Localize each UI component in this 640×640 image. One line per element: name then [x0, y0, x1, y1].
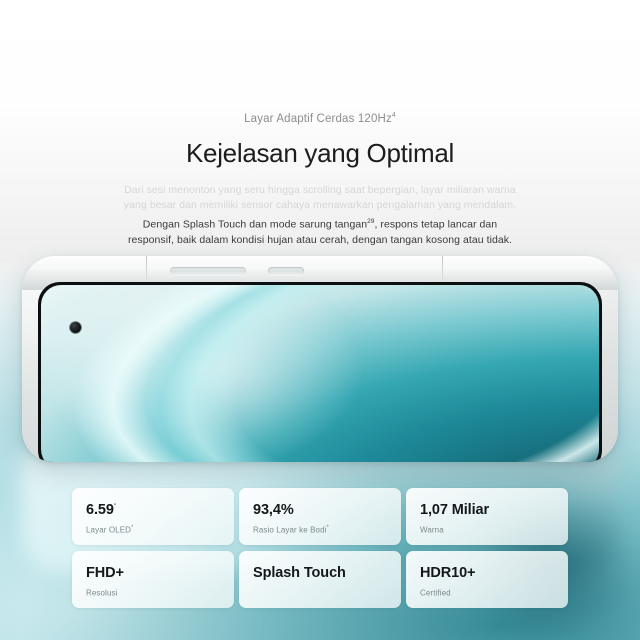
spec-cards-grid: 6.59" Layar OLED* 93,4% Rasio Layar ke B…: [72, 488, 568, 608]
spec-card-row-2: FHD+ Resolusi Splash Touch HDR10+ Certif…: [72, 551, 568, 608]
spec-card-subtitle: Certified: [420, 586, 554, 599]
paragraph-line-2: yang besar dan memiliki sensor cahaya me…: [0, 198, 640, 214]
spec-card-subtitle: Layar OLED*: [86, 523, 220, 536]
power-button-cutout: [268, 267, 304, 275]
spec-card-colors[interactable]: 1,07 Miliar Warna: [406, 488, 568, 545]
spec-footnote-marker: *: [327, 525, 329, 531]
eyebrow-footnote-marker: 4: [392, 112, 396, 119]
hero-paragraph: Dari sesi menonton yang seru hingga scro…: [0, 183, 640, 249]
paragraph-line-3-text: Dengan Splash Touch dan mode sarung tang…: [143, 218, 367, 230]
spec-card-title: FHD+: [86, 562, 220, 582]
punch-hole-camera-icon: [70, 322, 81, 333]
spec-card-title: 93,4%: [253, 499, 387, 519]
spec-card-subtitle: Warna: [420, 523, 554, 536]
paragraph-line-3-text-after: , respons tetap lancar dan: [374, 218, 497, 230]
spec-card-title: 1,07 Miliar: [420, 499, 554, 519]
paragraph-line-1: Dari sesi menonton yang seru hingga scro…: [0, 183, 640, 199]
hero-text-block: Layar Adaptif Cerdas 120Hz4 Kejelasan ya…: [0, 108, 640, 248]
wallpaper-arc-secondary: [41, 285, 599, 462]
spec-card-title: 6.59": [86, 499, 220, 519]
spec-card-subtitle: Resolusi: [86, 586, 220, 599]
spec-value: 6.59: [86, 502, 114, 518]
phone-screen: [38, 282, 602, 462]
product-feature-page: Layar Adaptif Cerdas 120Hz4 Kejelasan ya…: [0, 0, 640, 640]
spec-label: Certified: [420, 588, 451, 597]
spec-footnote-marker: *: [131, 525, 133, 531]
spec-label: Layar OLED: [86, 525, 131, 534]
smartphone-device-image: [22, 256, 618, 462]
spec-label: Resolusi: [86, 588, 117, 597]
spec-card-display-size[interactable]: 6.59" Layar OLED*: [72, 488, 234, 545]
spec-card-subtitle: Rasio Layar ke Bodi*: [253, 523, 387, 536]
spec-value: FHD+: [86, 565, 124, 581]
page-title: Kejelasan yang Optimal: [0, 137, 640, 169]
spec-value: 93,4%: [253, 502, 294, 518]
spec-card-row-1: 6.59" Layar OLED* 93,4% Rasio Layar ke B…: [72, 488, 568, 545]
wallpaper-teal-abstract-wave: [41, 285, 599, 462]
spec-label: Rasio Layar ke Bodi: [253, 525, 327, 534]
spec-value: 1,07 Miliar: [420, 502, 489, 518]
spec-card-hdr[interactable]: HDR10+ Certified: [406, 551, 568, 608]
spec-value: Splash Touch: [253, 565, 346, 581]
spec-label: Warna: [420, 525, 444, 534]
paragraph-line-4: responsif, baik dalam kondisi hujan atau…: [0, 233, 640, 249]
volume-button-cutout: [170, 267, 246, 275]
spec-unit-marker: ": [114, 504, 116, 510]
spec-card-resolution[interactable]: FHD+ Resolusi: [72, 551, 234, 608]
eyebrow-text: Layar Adaptif Cerdas 120Hz: [244, 113, 392, 125]
spec-card-screen-body-ratio[interactable]: 93,4% Rasio Layar ke Bodi*: [239, 488, 401, 545]
spec-card-splash-touch[interactable]: Splash Touch: [239, 551, 401, 608]
paragraph-line-3: Dengan Splash Touch dan mode sarung tang…: [0, 214, 640, 233]
spec-value: HDR10+: [420, 565, 475, 581]
spec-card-title: HDR10+: [420, 562, 554, 582]
spec-card-title: Splash Touch: [253, 562, 387, 582]
eyebrow-label: Layar Adaptif Cerdas 120Hz4: [0, 108, 640, 127]
